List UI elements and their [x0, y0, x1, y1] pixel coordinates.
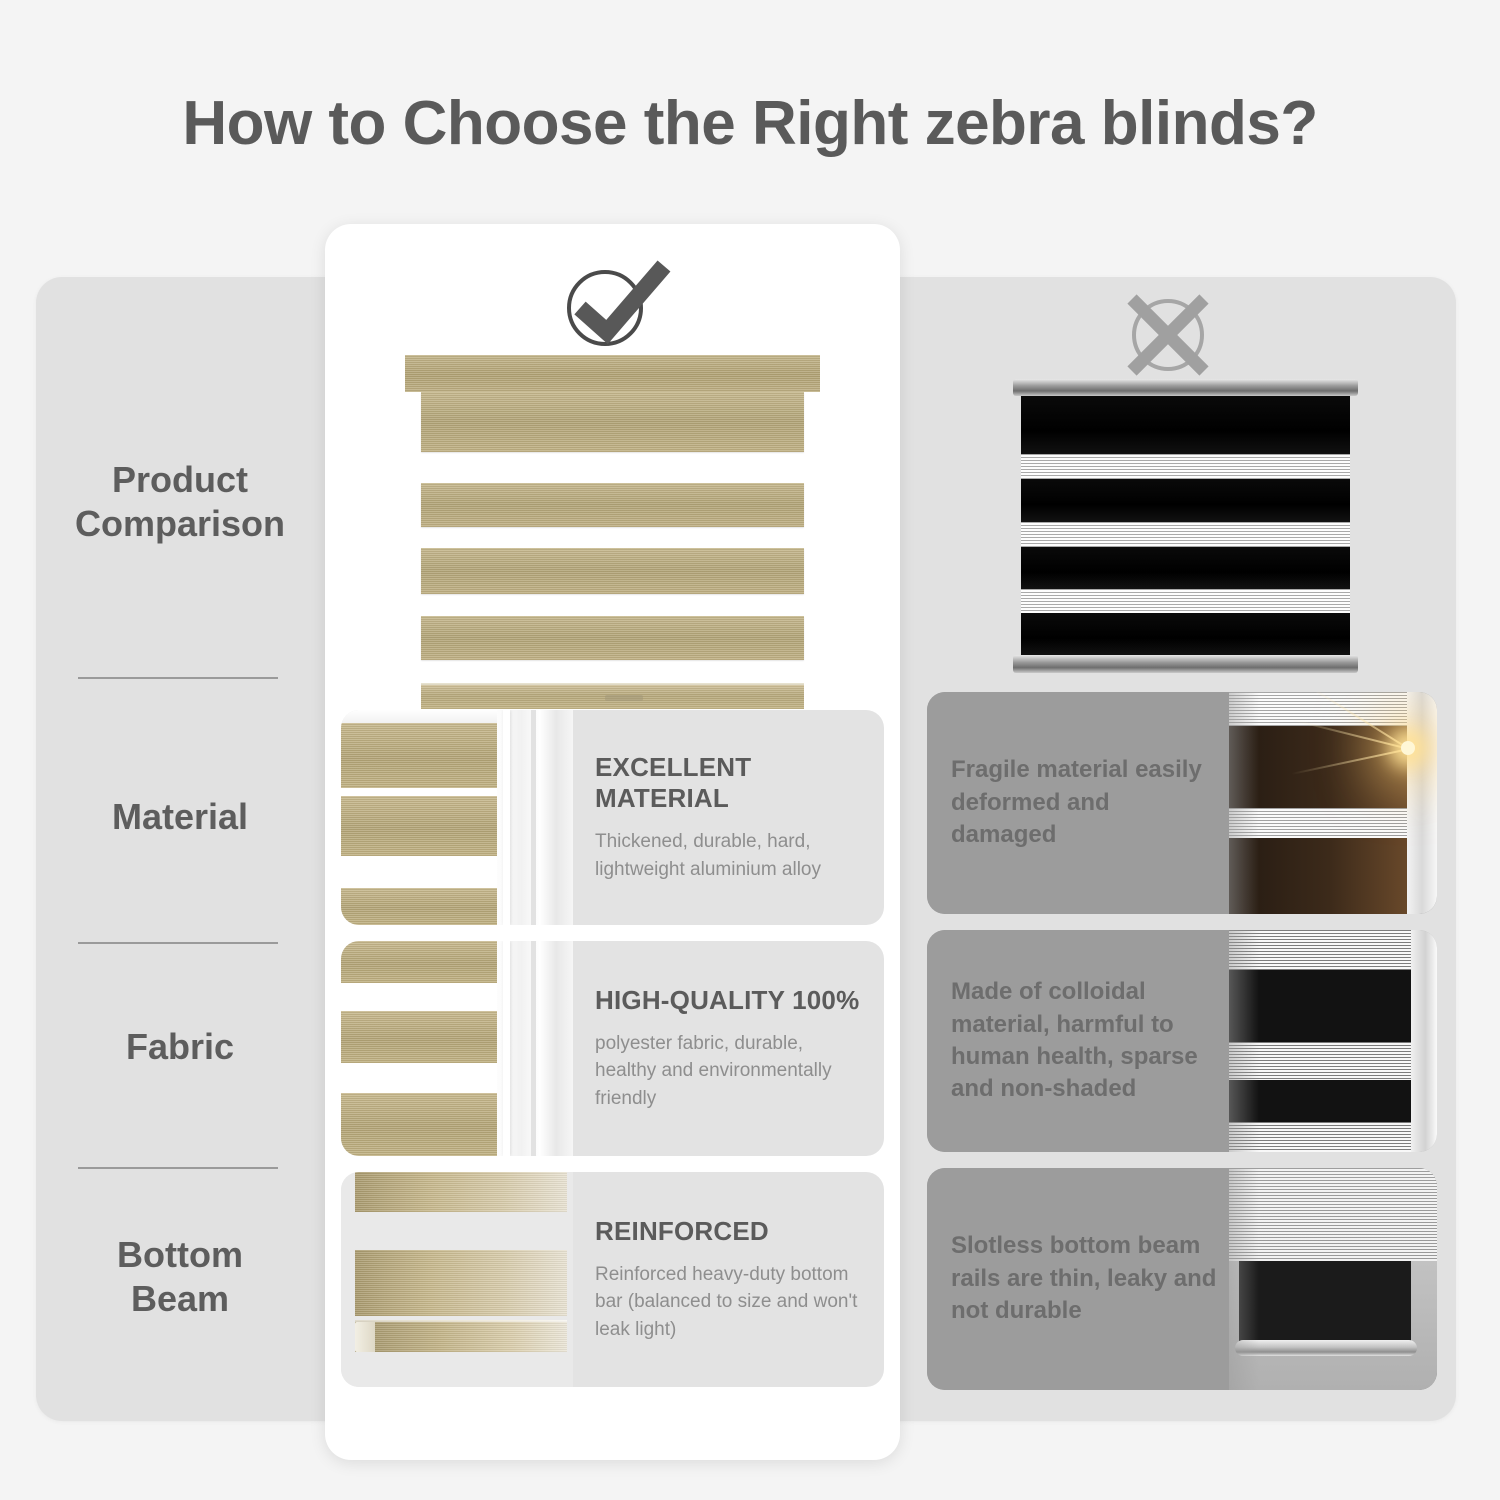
blind-opaque-band: [1021, 613, 1350, 655]
sidebar-divider: [78, 677, 278, 679]
light-leaking-through-blind-photo: [1229, 692, 1437, 914]
not-recommended-product-column: Fragile material easily deformed and dam…: [905, 277, 1456, 1421]
blind-slat: [421, 392, 804, 452]
photo-sheer: [1229, 1168, 1437, 1261]
bottom-bar-end-cap: [355, 1322, 375, 1352]
drawback-text: Fragile material easily deformed and dam…: [927, 692, 1229, 914]
tan-blind-on-window-frame-photo: [341, 710, 573, 925]
cross-circle-icon: [1120, 287, 1216, 388]
photo-fade: [1229, 930, 1259, 1152]
blind-sheer-band: [1021, 589, 1350, 613]
recommended-product-card: EXCELLENT MATERIAL Thickened, durable, h…: [325, 224, 900, 1460]
drawback-card-material: Fragile material easily deformed and dam…: [927, 692, 1437, 914]
drawback-label: Slotless bottom beam rails are thin, lea…: [951, 1230, 1219, 1327]
drawback-label: Made of colloidal material, harmful to h…: [951, 976, 1219, 1106]
photo-slat: [355, 1172, 567, 1212]
page-title: How to Choose the Right zebra blinds?: [0, 88, 1500, 159]
sidebar-row-bottom-beam: Bottom Beam: [36, 1207, 324, 1347]
feature-text: REINFORCED Reinforced heavy-duty bottom …: [573, 1172, 884, 1387]
tan-blind-bottom-beam-photo: [341, 1172, 573, 1387]
photo-slat: [341, 1093, 511, 1156]
blind-sheer-band: [1021, 454, 1350, 479]
sidebar-row-product-comparison: Product Comparison: [36, 417, 324, 587]
photo-slat: [341, 796, 511, 856]
tan-zebra-blind-hero-image: [405, 355, 820, 710]
photo-sheer: [341, 983, 511, 1011]
feature-body: polyester fabric, durable, healthy and e…: [595, 1030, 866, 1113]
drawback-text: Made of colloidal material, harmful to h…: [927, 930, 1229, 1152]
blind-sheer-band: [1021, 522, 1350, 547]
thin-bottom-rail: [1235, 1340, 1417, 1356]
photo-slat: [341, 1011, 511, 1063]
window-frame: [497, 710, 573, 925]
window-frame: [1407, 692, 1437, 914]
photo-sheer: [341, 856, 511, 888]
blind-bottom-rail: [1013, 655, 1358, 673]
photo-fade: [1229, 692, 1259, 914]
feature-text: EXCELLENT MATERIAL Thickened, durable, h…: [573, 710, 884, 925]
feature-card-bottom-beam: REINFORCED Reinforced heavy-duty bottom …: [341, 1172, 884, 1387]
feature-heading: REINFORCED: [595, 1216, 866, 1247]
drawback-text: Slotless bottom beam rails are thin, lea…: [927, 1168, 1229, 1390]
feature-body: Reinforced heavy-duty bottom bar (balanc…: [595, 1261, 866, 1344]
feature-body: Thickened, durable, hard, lightweight al…: [595, 828, 866, 883]
feature-text: HIGH-QUALITY 100% polyester fabric, dura…: [573, 941, 884, 1156]
tan-blind-fabric-closeup-photo: [341, 941, 573, 1156]
drawback-card-fabric: Made of colloidal material, harmful to h…: [927, 930, 1437, 1152]
sparse-sheer-fabric-photo: [1229, 930, 1437, 1152]
blind-slat: [421, 616, 804, 660]
blind-slat: [421, 548, 804, 594]
photo-sheer: [341, 788, 511, 796]
photo-opaque-band: [1239, 1261, 1411, 1345]
sidebar-item-label: Product Comparison: [65, 458, 295, 546]
sidebar-item-label: Fabric: [65, 1025, 295, 1069]
blind-slat: [421, 483, 804, 527]
sidebar-item-label: Material: [65, 795, 295, 839]
sidebar-item-label: Bottom Beam: [65, 1233, 295, 1321]
window-frame: [1411, 930, 1437, 1152]
blind-opaque-band: [1021, 547, 1350, 589]
thin-bottom-rail-photo: [1229, 1168, 1437, 1390]
feature-card-material: EXCELLENT MATERIAL Thickened, durable, h…: [341, 710, 884, 925]
sidebar-row-material: Material: [36, 767, 324, 867]
sidebar-row-fabric: Fabric: [36, 997, 324, 1097]
blind-bottom-rail: [421, 683, 804, 709]
feature-heading: HIGH-QUALITY 100%: [595, 985, 866, 1016]
black-zebra-blind-hero-image: [1013, 379, 1358, 679]
drawback-card-bottom-beam: Slotless bottom beam rails are thin, lea…: [927, 1168, 1437, 1390]
check-circle-icon: [562, 256, 672, 356]
blind-opaque-band: [1021, 396, 1350, 454]
photo-sheer: [341, 1063, 511, 1093]
photo-frame-top: [341, 710, 513, 723]
photo-slat: [341, 941, 511, 983]
photo-slat: [355, 1250, 567, 1316]
feature-heading: EXCELLENT MATERIAL: [595, 752, 866, 814]
window-frame: [497, 941, 573, 1156]
reinforced-bottom-bar: [355, 1320, 567, 1352]
criteria-sidebar: Product Comparison Material Fabric Botto…: [36, 277, 324, 1421]
photo-slat: [341, 888, 511, 925]
sun-glare-icon: [1401, 741, 1415, 755]
photo-fade: [1229, 1168, 1259, 1390]
sidebar-divider: [78, 942, 278, 944]
blind-headrail: [1013, 379, 1358, 396]
feature-card-fabric: HIGH-QUALITY 100% polyester fabric, dura…: [341, 941, 884, 1156]
blind-headrail: [405, 355, 820, 392]
blind-opaque-band: [1021, 479, 1350, 522]
drawback-label: Fragile material easily deformed and dam…: [951, 754, 1219, 851]
photo-slat: [341, 723, 511, 788]
sidebar-divider: [78, 1167, 278, 1169]
